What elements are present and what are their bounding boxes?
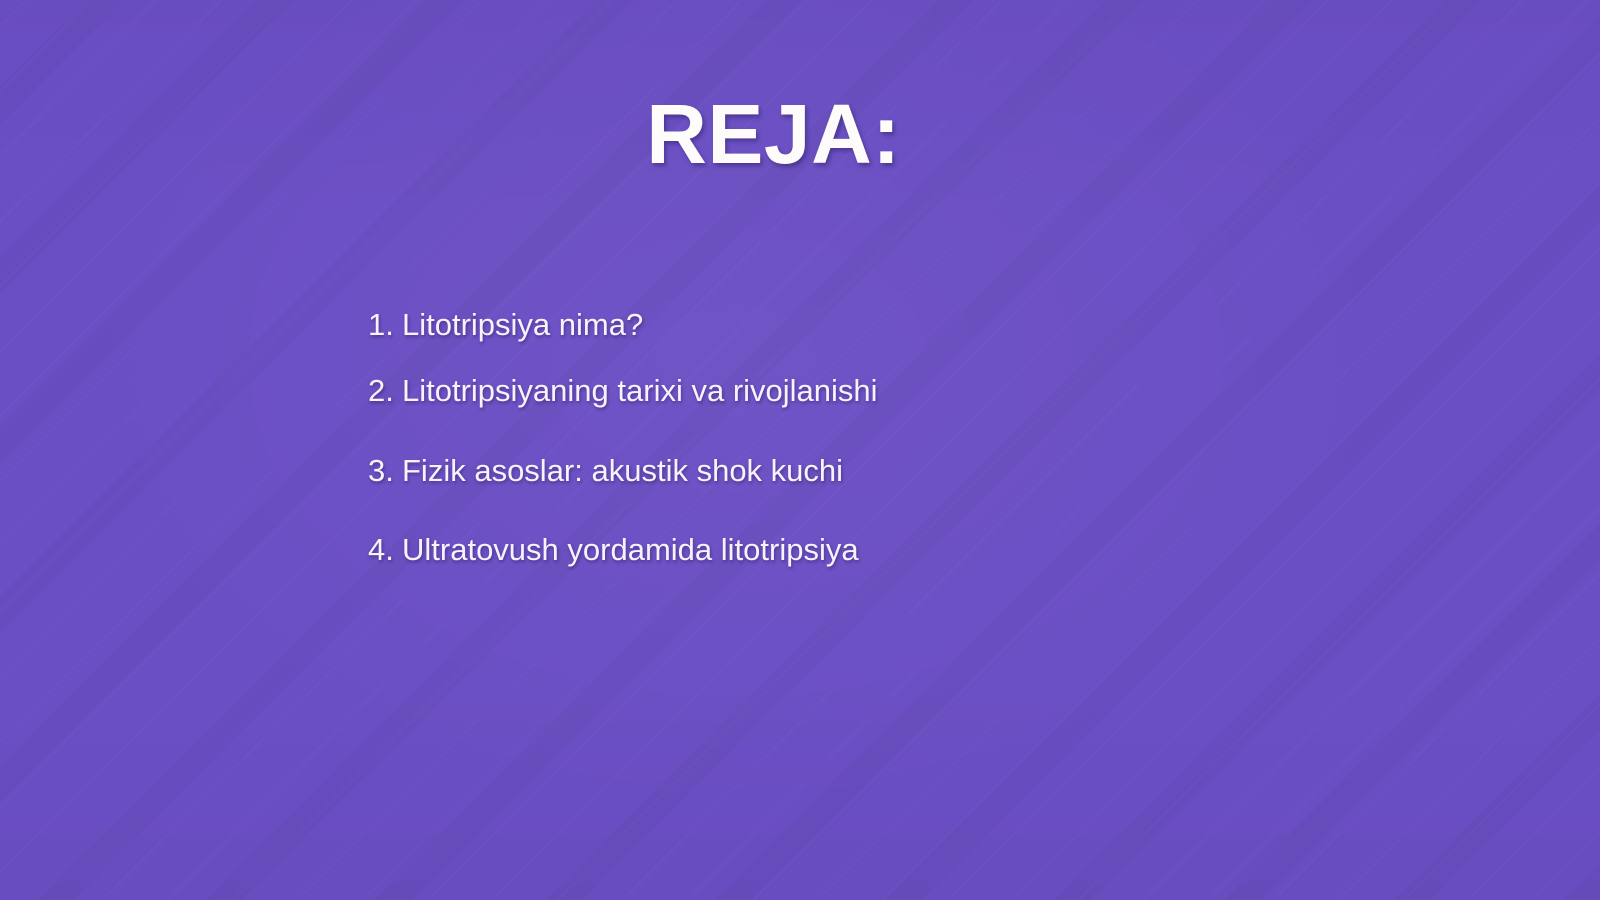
agenda-item-3: 3. Fizik asoslar: akustik shok kuchi	[368, 452, 1268, 491]
agenda-item-3-number: 3.	[368, 452, 402, 491]
agenda-item-4-number: 4.	[368, 531, 402, 570]
agenda-item-2-number: 2.	[368, 372, 402, 411]
agenda-item-2-label: Litotripsiyaning tarixi va rivojlanishi	[402, 372, 878, 411]
presentation-slide: REJA: 1. Litotripsiya nima? 2. Litotrips…	[0, 0, 1600, 900]
agenda-item-2: 2. Litotripsiyaning tarixi va rivojlanis…	[368, 372, 1268, 411]
agenda-item-1: 1. Litotripsiya nima?	[368, 306, 1268, 345]
agenda-list: 1. Litotripsiya nima? 2. Litotripsiyanin…	[368, 306, 1268, 570]
agenda-item-1-number: 1.	[368, 306, 402, 345]
agenda-item-4-label: Ultratovush yordamida litotripsiya	[402, 531, 859, 570]
agenda-item-1-label: Litotripsiya nima?	[402, 306, 643, 345]
slide-title: REJA:	[0, 92, 1547, 176]
agenda-item-3-label: Fizik asoslar: akustik shok kuchi	[402, 452, 843, 491]
agenda-item-4: 4. Ultratovush yordamida litotripsiya	[368, 531, 1268, 570]
